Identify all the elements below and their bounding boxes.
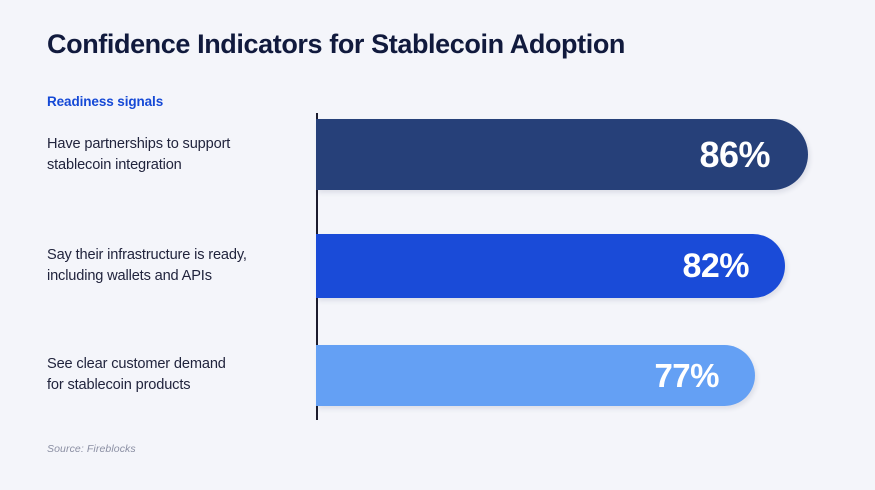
bar[interactable]: 77% bbox=[316, 345, 755, 406]
bar-category-label: Say their infrastructure is ready, inclu… bbox=[47, 245, 309, 287]
bar[interactable]: 86% bbox=[316, 119, 808, 190]
bar-value-label: 82% bbox=[682, 249, 749, 283]
bar-value-label: 77% bbox=[654, 359, 719, 392]
bar[interactable]: 82% bbox=[316, 234, 785, 298]
bar-category-label: Have partnerships to support stablecoin … bbox=[47, 134, 309, 176]
plot-area: Have partnerships to support stablecoin … bbox=[0, 0, 875, 490]
bar-category-label-line: including wallets and APIs bbox=[47, 266, 309, 287]
bar-category-label-line: Have partnerships to support bbox=[47, 134, 309, 155]
bar-category-label: See clear customer demand for stablecoin… bbox=[47, 354, 309, 396]
chart-card: Confidence Indicators for Stablecoin Ado… bbox=[0, 0, 875, 490]
bar-category-label-line: See clear customer demand bbox=[47, 354, 309, 375]
chart-source-note: Source: Fireblocks bbox=[47, 443, 136, 455]
bar-category-label-line: stablecoin integration bbox=[47, 155, 309, 176]
bar-category-label-line: for stablecoin products bbox=[47, 375, 309, 396]
bar-category-label-line: Say their infrastructure is ready, bbox=[47, 245, 309, 266]
bar-value-label: 86% bbox=[699, 137, 770, 173]
